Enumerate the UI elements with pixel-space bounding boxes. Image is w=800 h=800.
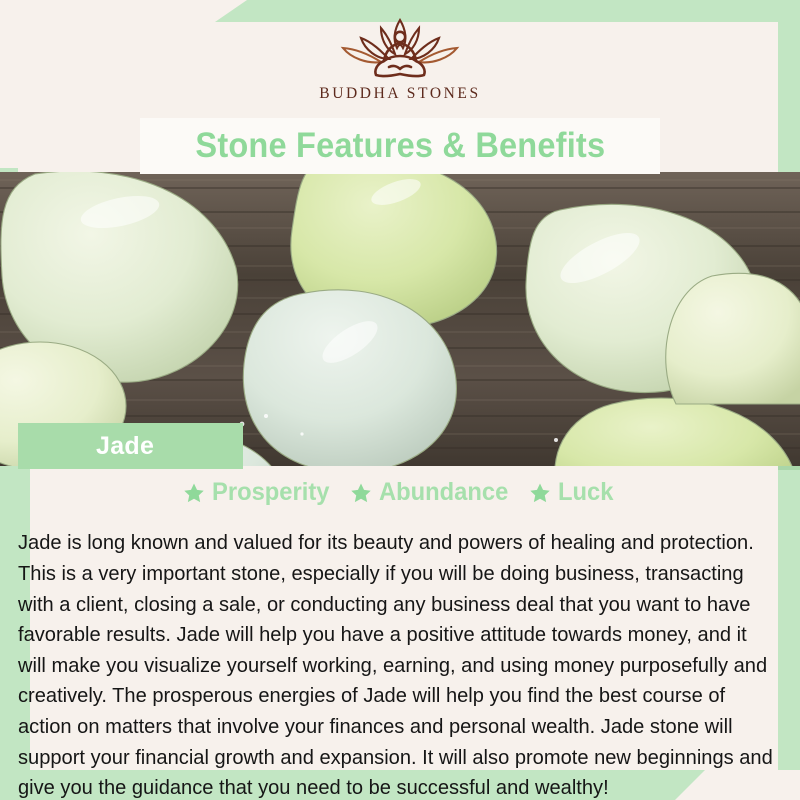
stone-description: Jade is long known and valued for its be… — [18, 528, 778, 800]
poster-canvas: BUDDHA STONES Stone Features & Benefits — [0, 0, 800, 800]
benefit-item: Abundance — [350, 478, 515, 507]
benefit-label: Luck — [558, 478, 613, 507]
star-icon — [183, 482, 205, 504]
stone-name-label: Jade — [18, 432, 154, 461]
page-title: Stone Features & Benefits — [195, 126, 605, 166]
header-title-band: Stone Features & Benefits — [140, 118, 660, 174]
benefits-row: Prosperity Abundance Luck — [0, 478, 800, 507]
lotus-meditation-figure-icon — [325, 14, 475, 82]
star-icon — [529, 482, 551, 504]
brand-name: BUDDHA STONES — [319, 85, 480, 103]
stone-name-banner: Jade — [18, 423, 243, 469]
benefit-label: Abundance — [379, 478, 508, 507]
benefit-item: Prosperity — [183, 478, 336, 507]
jade-stones-image — [0, 172, 800, 466]
brand-logo: BUDDHA STONES — [0, 14, 800, 114]
star-icon — [350, 482, 372, 504]
decor-band-right-lower — [778, 470, 800, 770]
benefit-label: Prosperity — [212, 478, 329, 507]
hero-photo — [0, 172, 800, 466]
benefit-item: Luck — [529, 478, 616, 507]
